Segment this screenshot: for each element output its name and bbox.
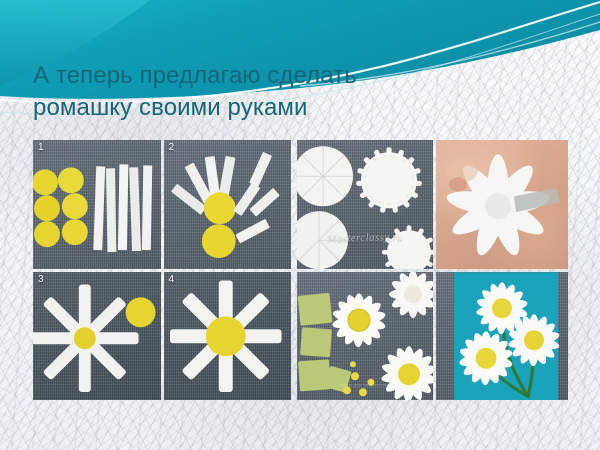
- result-photo-2[interactable]: [436, 140, 568, 269]
- loose-strips: [233, 152, 280, 244]
- slide-title-line-1: А теперь предлагаю сделать: [33, 60, 473, 92]
- collage-right-row-bottom: идеи для творчества: [297, 272, 568, 401]
- result-photo-4[interactable]: [436, 272, 568, 401]
- collage-left-row-top: 1: [33, 140, 291, 269]
- collage-right-group: Masterclassy.ru: [297, 140, 568, 400]
- slide-canvas: А теперь предлагаю сделать ромашку своим…: [0, 0, 600, 450]
- step-number-label: 3: [38, 274, 44, 285]
- slide-title-line-2: ромашку своими руками: [33, 92, 473, 124]
- fringed-flower-shapes: [356, 147, 433, 268]
- step-number-label: 2: [169, 142, 175, 153]
- white-paper-strips: [93, 164, 152, 252]
- scored-paper-circles: [297, 146, 353, 268]
- slide-title: А теперь предлагаю сделать ромашку своим…: [33, 60, 473, 124]
- yellow-circles: [33, 167, 88, 247]
- step-number-label: 1: [38, 142, 44, 153]
- collage-right-row-top: Masterclassy.ru: [297, 140, 568, 269]
- yellow-center: [203, 192, 235, 224]
- step-photo-3[interactable]: 3: [33, 272, 161, 401]
- result-photo-3[interactable]: идеи для творчества: [297, 272, 433, 401]
- yellow-circle-spare: [126, 297, 156, 327]
- tutorial-collage: 1: [33, 140, 568, 400]
- fingernail: [449, 177, 467, 191]
- step-photo-4[interactable]: 4: [164, 272, 292, 401]
- result-photo-1[interactable]: Masterclassy.ru: [297, 140, 433, 269]
- yellow-circle-spare: [201, 224, 235, 258]
- step-photo-1[interactable]: 1: [33, 140, 161, 269]
- step-photo-2[interactable]: 2: [164, 140, 292, 269]
- collage-left-group: 1: [33, 140, 291, 400]
- watermark-subtitle: идеи для творчества: [340, 382, 389, 387]
- flower-center: [74, 327, 96, 349]
- step-number-label: 4: [169, 274, 175, 285]
- collage-left-row-bottom: 3: [33, 272, 291, 401]
- watermark: Masterclassy.ru: [327, 231, 403, 244]
- flower-center: [205, 316, 245, 356]
